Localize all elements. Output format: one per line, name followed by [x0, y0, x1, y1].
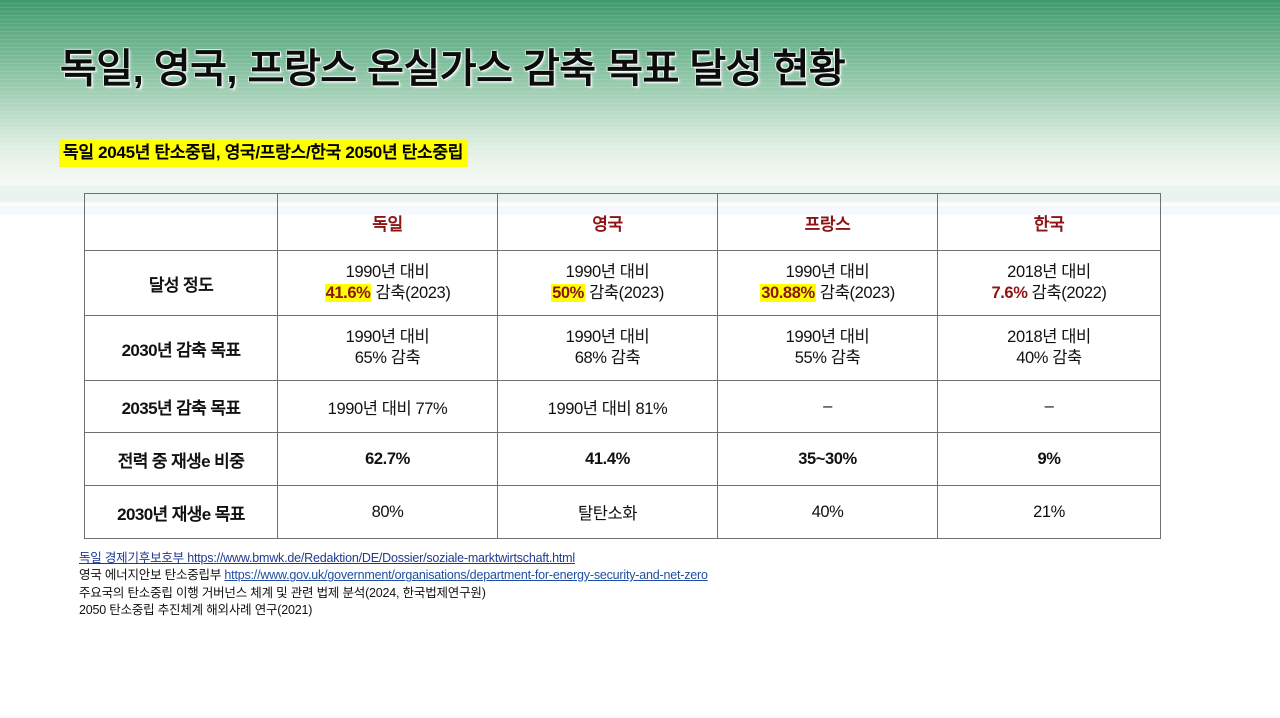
highlighted-value: 41.6%: [325, 284, 372, 302]
source-note-report-2: 2050 탄소중립 추진체계 해외사례 연구(2021): [79, 602, 708, 619]
cell-line-1: 1990년 대비: [722, 327, 933, 348]
cell-2030-korea: 2018년 대비 40% 감축: [938, 316, 1161, 381]
cell-renewable-share-korea: 9%: [938, 433, 1161, 486]
highlighted-value: 50%: [551, 284, 585, 302]
page-title: 독일, 영국, 프랑스 온실가스 감축 목표 달성 현황: [60, 36, 845, 94]
row-label-renewable-share: 전력 중 재생e 비중: [85, 433, 278, 486]
table-row: 달성 정도 1990년 대비 41.6% 감축(2023) 1990년 대비 5…: [85, 251, 1161, 316]
table-header-row: 독일 영국 프랑스 한국: [85, 194, 1161, 251]
cell-2030-germany: 1990년 대비 65% 감축: [278, 316, 498, 381]
cell-renewable-share-france: 35~30%: [718, 433, 938, 486]
table-header: 독일 영국 프랑스 한국: [85, 194, 1161, 251]
source-note-uk-label: 영국 에너지안보 탄소중립부: [79, 568, 224, 582]
subtitle-highlight: 독일 2045년 탄소중립, 영국/프랑스/한국 2050년 탄소중립: [59, 140, 468, 167]
cell-2030-uk: 1990년 대비 68% 감축: [498, 316, 718, 381]
cell-line-2-rest: 감축(2023): [816, 284, 895, 302]
column-header-uk: 영국: [498, 194, 718, 251]
cell-2035-france: –: [718, 381, 938, 433]
source-note-germany-label[interactable]: 독일 경제기후보호부: [79, 551, 187, 565]
table-corner-cell: [85, 194, 278, 251]
column-header-korea: 한국: [938, 194, 1161, 251]
cell-line-2-rest: 감축(2023): [371, 284, 450, 302]
table-row: 2035년 감축 목표 1990년 대비 77% 1990년 대비 81% – …: [85, 381, 1161, 433]
source-notes: 독일 경제기후보호부 https://www.bmwk.de/Redaktion…: [79, 550, 708, 619]
cell-line-2: 50% 감축(2023): [502, 283, 713, 304]
column-header-france: 프랑스: [718, 194, 938, 251]
cell-2030-renewable-korea: 21%: [938, 486, 1161, 539]
cell-line-2-rest: 감축(2023): [585, 284, 664, 302]
table-body: 달성 정도 1990년 대비 41.6% 감축(2023) 1990년 대비 5…: [85, 251, 1161, 539]
column-header-germany: 독일: [278, 194, 498, 251]
cell-line-2: 55% 감축: [722, 348, 933, 369]
cell-2035-korea: –: [938, 381, 1161, 433]
cell-line-2: 41.6% 감축(2023): [282, 283, 493, 304]
cell-renewable-share-germany: 62.7%: [278, 433, 498, 486]
subtitle-container: 독일 2045년 탄소중립, 영국/프랑스/한국 2050년 탄소중립: [59, 140, 468, 167]
cell-2030-france: 1990년 대비 55% 감축: [718, 316, 938, 381]
cell-2030-renewable-france: 40%: [718, 486, 938, 539]
source-note-uk-url[interactable]: https://www.gov.uk/government/organisati…: [224, 568, 707, 582]
cell-line-2: 65% 감축: [282, 348, 493, 369]
cell-line-1: 2018년 대비: [942, 327, 1156, 348]
cell-line-1: 1990년 대비: [282, 262, 493, 283]
table-row: 전력 중 재생e 비중 62.7% 41.4% 35~30% 9%: [85, 433, 1161, 486]
cell-2030-renewable-germany: 80%: [278, 486, 498, 539]
cell-line-2: 40% 감축: [942, 348, 1156, 369]
cell-2035-germany: 1990년 대비 77%: [278, 381, 498, 433]
cell-line-1: 2018년 대비: [942, 262, 1156, 283]
cell-2035-uk: 1990년 대비 81%: [498, 381, 718, 433]
row-label-2035-target: 2035년 감축 목표: [85, 381, 278, 433]
cell-line-2: 7.6% 감축(2022): [942, 283, 1156, 304]
row-label-achievement: 달성 정도: [85, 251, 278, 316]
cell-line-2: 30.88% 감축(2023): [722, 283, 933, 304]
source-note-germany-url[interactable]: https://www.bmwk.de/Redaktion/DE/Dossier…: [187, 551, 575, 565]
source-note-report-1: 주요국의 탄소중립 이행 거버넌스 체계 및 관련 법제 분석(2024, 한국…: [79, 585, 708, 602]
cell-achievement-france: 1990년 대비 30.88% 감축(2023): [718, 251, 938, 316]
cell-line-1: 1990년 대비: [722, 262, 933, 283]
cell-achievement-germany: 1990년 대비 41.6% 감축(2023): [278, 251, 498, 316]
cell-achievement-korea: 2018년 대비 7.6% 감축(2022): [938, 251, 1161, 316]
table-row: 2030년 감축 목표 1990년 대비 65% 감축 1990년 대비 68%…: [85, 316, 1161, 381]
slide-canvas: 독일, 영국, 프랑스 온실가스 감축 목표 달성 현황 독일 2045년 탄소…: [0, 0, 1280, 718]
red-value: 7.6%: [991, 284, 1027, 302]
highlighted-value: 30.88%: [760, 284, 816, 302]
cell-achievement-uk: 1990년 대비 50% 감축(2023): [498, 251, 718, 316]
cell-line-1: 1990년 대비: [502, 327, 713, 348]
cell-line-1: 1990년 대비: [282, 327, 493, 348]
row-label-2030-target: 2030년 감축 목표: [85, 316, 278, 381]
table-row: 2030년 재생e 목표 80% 탈탄소화 40% 21%: [85, 486, 1161, 539]
source-note-germany: 독일 경제기후보호부 https://www.bmwk.de/Redaktion…: [79, 550, 708, 567]
row-label-2030-renewable-target: 2030년 재생e 목표: [85, 486, 278, 539]
cell-line-2: 68% 감축: [502, 348, 713, 369]
comparison-table: 독일 영국 프랑스 한국 달성 정도 1990년 대비 41.6% 감축(202…: [84, 193, 1161, 539]
source-note-uk: 영국 에너지안보 탄소중립부 https://www.gov.uk/govern…: [79, 567, 708, 584]
cell-2030-renewable-uk: 탈탄소화: [498, 486, 718, 539]
cell-renewable-share-uk: 41.4%: [498, 433, 718, 486]
cell-line-1: 1990년 대비: [502, 262, 713, 283]
cell-line-2-rest: 감축(2022): [1027, 284, 1106, 302]
